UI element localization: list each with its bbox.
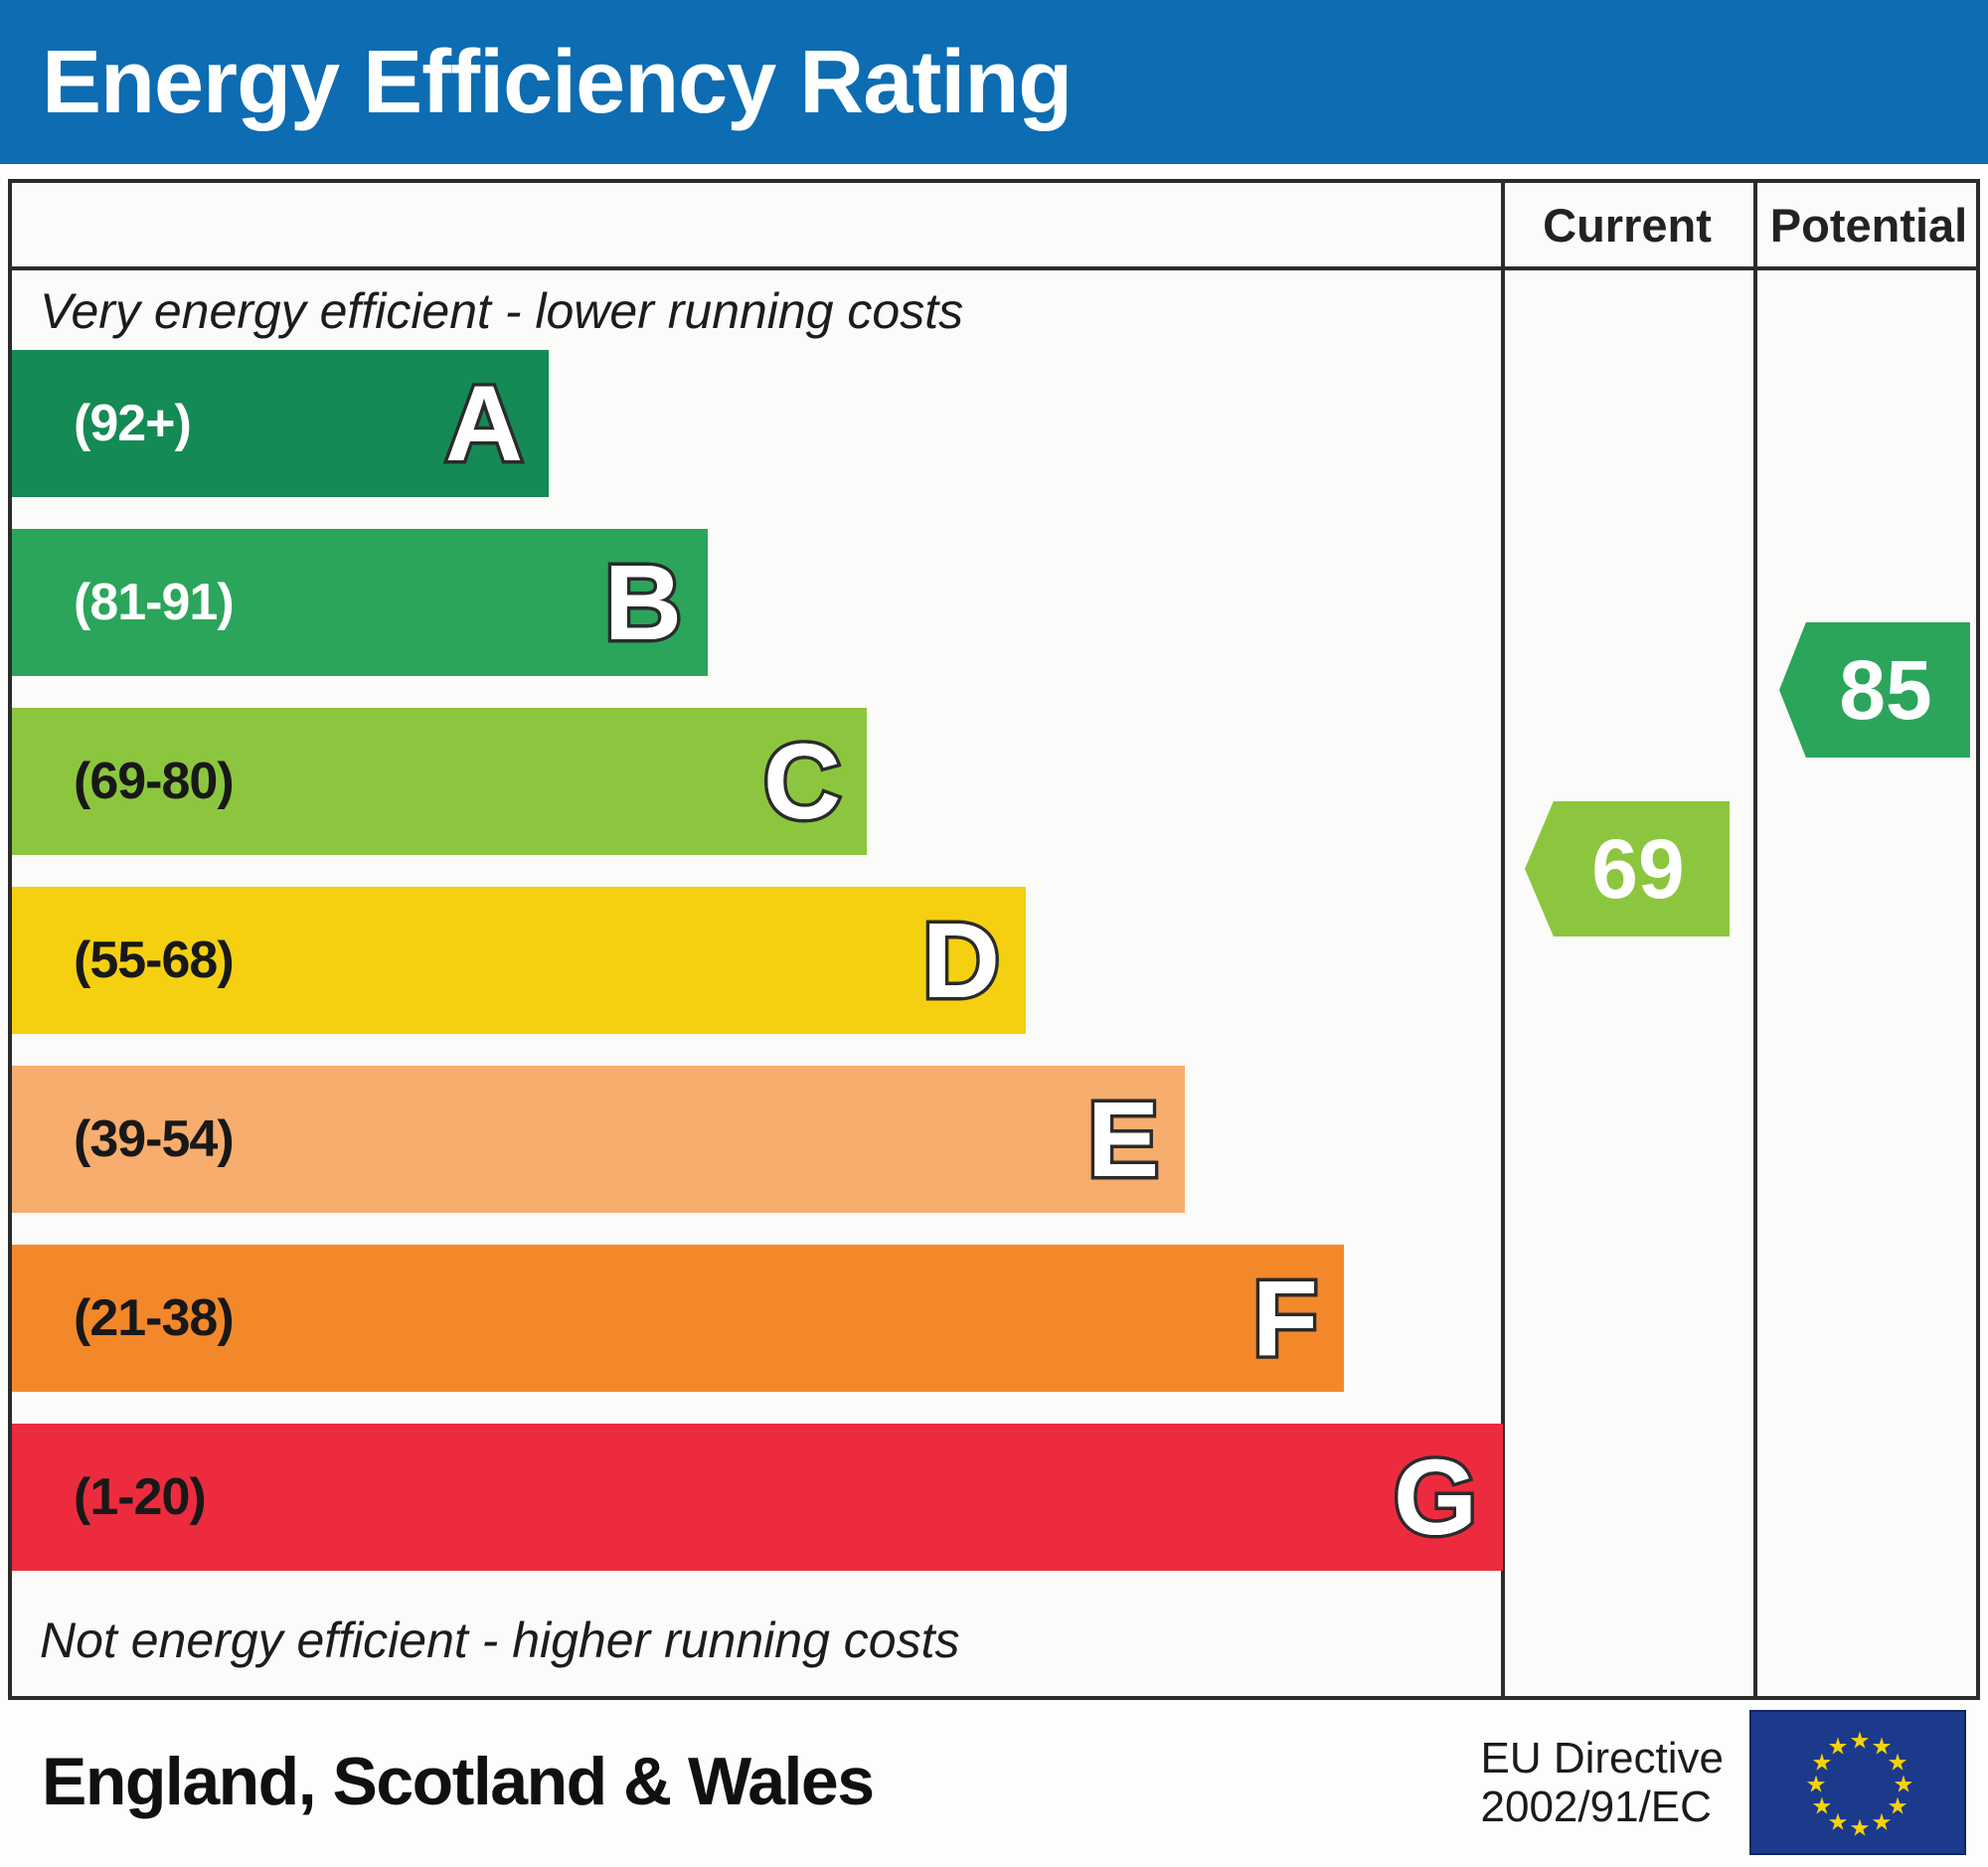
band-range-f: (21-38)	[12, 1288, 234, 1348]
eu-star-icon	[1829, 1737, 1848, 1756]
band-range-b: (81-91)	[12, 573, 234, 632]
eu-star-icon	[1873, 1813, 1892, 1832]
eu-star-icon	[1829, 1813, 1848, 1832]
band-range-e: (39-54)	[12, 1109, 234, 1169]
column-header-row: Current Potential	[12, 183, 1976, 270]
band-row-b: (81-91)B	[12, 529, 708, 676]
caption-inefficient: Not energy efficient - higher running co…	[40, 1612, 1461, 1669]
band-row-d: (55-68)D	[12, 887, 1026, 1034]
title-band: Energy Efficiency Rating	[0, 0, 1988, 164]
eu-star-icon	[1851, 1819, 1870, 1838]
band-range-d: (55-68)	[12, 931, 234, 990]
band-range-g: (1-20)	[12, 1467, 206, 1527]
rating-chart-frame: Current Potential Very energy efficient …	[8, 179, 1980, 1700]
eu-directive-text: EU Directive 2002/91/EC	[1481, 1734, 1725, 1832]
footer-region-label: England, Scotland & Wales	[8, 1743, 874, 1820]
eu-star-icon	[1895, 1776, 1913, 1794]
band-letter-b: B	[604, 549, 682, 656]
band-letter-a: A	[445, 370, 523, 477]
eu-star-icon	[1812, 1797, 1831, 1816]
footer: England, Scotland & Wales EU Directive 2…	[8, 1704, 1980, 1859]
page-title: Energy Efficiency Rating	[0, 38, 1072, 127]
column-header-current: Current	[1501, 183, 1749, 266]
caption-efficient: Very energy efficient - lower running co…	[40, 282, 1461, 340]
current-rating-value: 69	[1591, 821, 1684, 918]
band-row-g: (1-20)G	[12, 1424, 1503, 1571]
band-row-a: (92+)A	[12, 350, 549, 497]
eu-directive-line1: EU Directive	[1481, 1734, 1725, 1782]
band-letter-f: F	[1252, 1265, 1318, 1372]
band-row-e: (39-54)E	[12, 1066, 1185, 1213]
band-bars: (92+)A(81-91)B(69-80)C(55-68)D(39-54)E(2…	[12, 350, 1497, 1605]
eu-flag-icon	[1749, 1710, 1966, 1855]
potential-rating-value: 85	[1839, 642, 1931, 739]
band-letter-e: E	[1087, 1086, 1159, 1193]
column-divider-potential	[1753, 270, 1757, 1700]
eu-star-icon	[1873, 1737, 1892, 1756]
eu-star-icon	[1851, 1732, 1870, 1751]
epc-certificate: Energy Efficiency Rating Current Potenti…	[0, 0, 1988, 1867]
column-header-potential: Potential	[1753, 183, 1980, 266]
current-rating-arrow: 69	[1525, 801, 1730, 936]
band-letter-g: G	[1394, 1443, 1477, 1551]
eu-star-icon	[1889, 1754, 1907, 1773]
potential-rating-arrow: 85	[1779, 622, 1970, 758]
band-range-a: (92+)	[12, 394, 191, 453]
eu-star-icon	[1889, 1797, 1907, 1816]
band-range-c: (69-80)	[12, 752, 234, 811]
eu-star-icon	[1812, 1754, 1831, 1773]
eu-star-icon	[1807, 1776, 1826, 1794]
band-letter-d: D	[922, 907, 1000, 1014]
footer-directive-group: EU Directive 2002/91/EC	[1481, 1710, 1967, 1855]
band-row-f: (21-38)F	[12, 1245, 1344, 1392]
band-row-c: (69-80)C	[12, 708, 867, 855]
band-letter-c: C	[763, 728, 841, 835]
eu-directive-line2: 2002/91/EC	[1481, 1782, 1725, 1831]
